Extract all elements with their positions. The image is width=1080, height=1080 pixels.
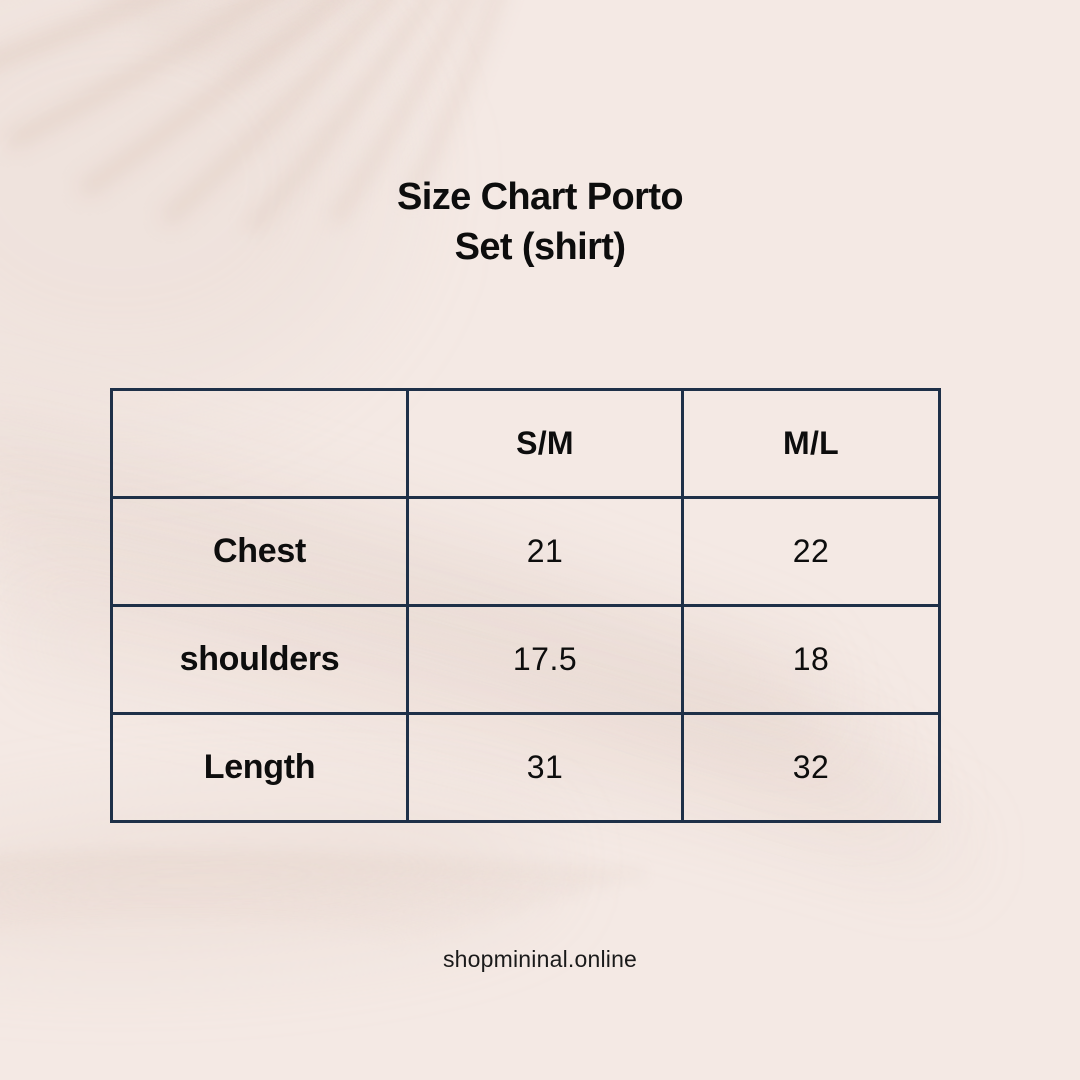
cell-length-ml: 32 — [683, 714, 940, 822]
size-chart-table: S/M M/L Chest 21 22 shoulders 17.5 18 Le… — [110, 388, 941, 823]
title-line-1: Size Chart Porto — [0, 172, 1080, 222]
table-row: shoulders 17.5 18 — [112, 606, 940, 714]
row-label-length: Length — [112, 714, 408, 822]
table-row: Chest 21 22 — [112, 498, 940, 606]
cell-chest-sm: 21 — [408, 498, 683, 606]
footer-website: shopmininal.online — [0, 946, 1080, 973]
row-label-shoulders: shoulders — [112, 606, 408, 714]
table-row: Length 31 32 — [112, 714, 940, 822]
column-header-sm: S/M — [408, 390, 683, 498]
title-line-2: Set (shirt) — [0, 222, 1080, 272]
cell-shoulders-sm: 17.5 — [408, 606, 683, 714]
table-header-row: S/M M/L — [112, 390, 940, 498]
table-corner-cell — [112, 390, 408, 498]
row-label-chest: Chest — [112, 498, 408, 606]
column-header-ml: M/L — [683, 390, 940, 498]
page-title: Size Chart Porto Set (shirt) — [0, 172, 1080, 272]
size-chart-page: Size Chart Porto Set (shirt) S/M M/L Che… — [0, 0, 1080, 1080]
cell-shoulders-ml: 18 — [683, 606, 940, 714]
cell-length-sm: 31 — [408, 714, 683, 822]
cell-chest-ml: 22 — [683, 498, 940, 606]
